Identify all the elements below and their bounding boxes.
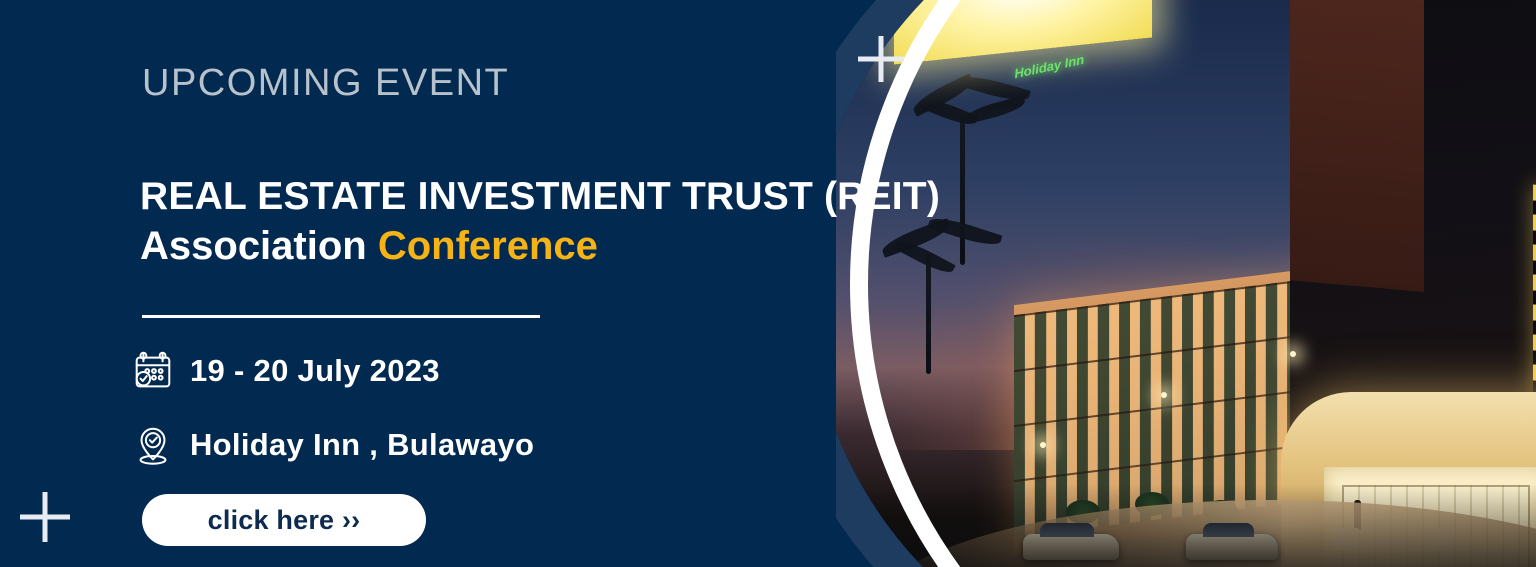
subtitle-accent: Conference <box>378 224 598 268</box>
hotel-photo: Holiday Inn <box>836 0 1536 567</box>
lamp-2 <box>1161 392 1167 398</box>
brick-facade <box>1290 0 1424 291</box>
click-here-label: click here ›› <box>208 505 361 536</box>
subtitle-primary: Association <box>140 224 367 268</box>
event-date-row: 19 - 20 July 2023 <box>130 348 440 394</box>
page-title: REAL ESTATE INVESTMENT TRUST (REIT) <box>140 175 940 219</box>
asphalt-foreground <box>836 484 1536 567</box>
event-venue-row: Holiday Inn , Bulawayo <box>130 422 534 468</box>
click-here-button[interactable]: click here ›› <box>142 494 426 546</box>
lit-windows <box>1532 184 1536 397</box>
calendar-check-icon <box>130 348 176 394</box>
hotel-photo-stage: Holiday Inn <box>836 0 1536 567</box>
content-column: UPCOMING EVENT REAL ESTATE INVESTMENT TR… <box>0 0 880 567</box>
event-venue: Holiday Inn , Bulawayo <box>190 427 534 463</box>
lamp-3 <box>1290 351 1296 357</box>
eyebrow-label: UPCOMING EVENT <box>142 62 509 105</box>
subtitle: Association Conference <box>140 224 598 269</box>
event-banner: Holiday Inn UPCOMING EVENT <box>0 0 1536 567</box>
title-divider <box>142 315 540 318</box>
map-pin-check-icon <box>130 422 176 468</box>
event-date: 19 - 20 July 2023 <box>190 353 440 389</box>
